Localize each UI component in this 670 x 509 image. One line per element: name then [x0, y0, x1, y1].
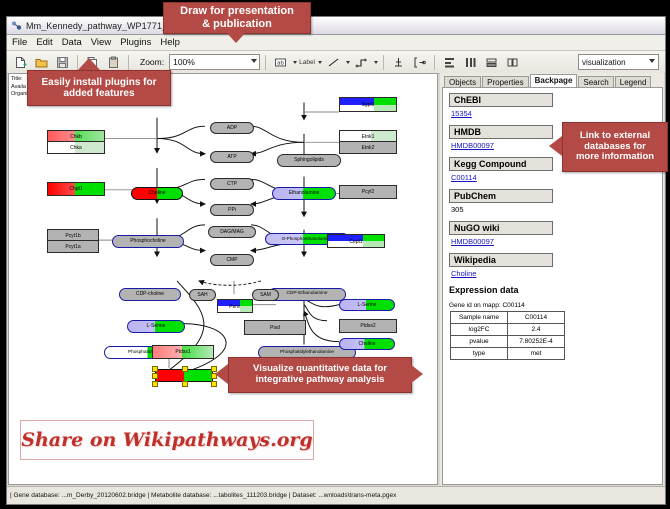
table-row: log2FC 2.4 [451, 324, 565, 336]
node-label: Etnk1 [362, 134, 375, 140]
menu-item-file[interactable]: File [12, 37, 27, 48]
section-header-nugo-wiki: NuGO wiki [449, 221, 553, 235]
node-etnk2[interactable]: Etnk2 [339, 141, 397, 154]
value-pubchem: 305 [451, 205, 656, 214]
line-icon[interactable] [324, 53, 343, 72]
gene-id-on-mapp: Gene id on mapp: C00114 [449, 302, 656, 309]
node-label: CTP [227, 182, 237, 187]
node-ptdss1[interactable]: Ptdss1 [152, 345, 214, 359]
node-label: Chka [70, 145, 82, 151]
zoom-value: 100% [173, 57, 195, 67]
anchor-icon[interactable] [389, 53, 408, 72]
resize-handle-nw[interactable] [152, 366, 158, 372]
section-header-kegg: Kegg Compound [449, 157, 553, 171]
callout-plugins-arrow [78, 58, 100, 70]
node-label: Sphingolipids [294, 158, 324, 163]
callout-visualize-arrow-right [410, 364, 423, 384]
chevron-down-icon [251, 59, 257, 63]
open-folder-icon[interactable] [32, 53, 51, 72]
node-dagmag[interactable]: DAG/MAG [208, 226, 256, 238]
node-label: O-Phosphoethanolamine [282, 237, 333, 242]
table-row: pvalue 7.80252E-4 [451, 336, 565, 348]
node-label: Chpt1 [69, 186, 82, 192]
pathway-info-available: Availa [11, 84, 28, 92]
chevron-down-icon[interactable] [318, 61, 322, 64]
node-ctp[interactable]: CTP [210, 178, 254, 190]
node-cept1[interactable]: Cept1 [327, 234, 385, 248]
toolbar-separator [434, 55, 435, 70]
text-label-icon[interactable]: ab [271, 53, 290, 72]
chevron-down-icon [649, 59, 655, 63]
node-cmp[interactable]: CMP [210, 254, 254, 266]
callout-visualize-text: Visualize quantitative data for integrat… [253, 364, 387, 386]
node-label: Phosphocholine [130, 239, 166, 244]
node-choline-selected-group[interactable] [149, 364, 219, 386]
callout-link-arrow [549, 136, 562, 156]
save-icon[interactable] [53, 53, 72, 72]
zoom-select[interactable]: 100% [169, 54, 260, 70]
node-label: Pcyt1a [65, 244, 80, 250]
visualization-select[interactable]: visualization [578, 54, 659, 70]
tab-backpage[interactable]: Backpage [530, 74, 578, 87]
title-bar: Mm_Kennedy_pathway_WP1771_45176.gpml [7, 17, 665, 35]
new-file-icon[interactable] [11, 53, 30, 72]
node-label: SAM [260, 293, 271, 298]
callout-plugins: Easily install plugins for added feature… [27, 70, 171, 106]
screenshot-root: Mm_Kennedy_pathway_WP1771_45176.gpml Fil… [0, 0, 670, 509]
node-pisd[interactable]: Pisd [244, 320, 306, 335]
cell-value: C00114 [508, 312, 565, 324]
section-header-wikipedia: Wikipedia [449, 253, 553, 267]
node-label: L-Serine [147, 324, 166, 329]
menu-bar: File Edit Data View Plugins Help [7, 35, 665, 51]
callout-draw-arrow [225, 31, 247, 43]
node-label: Ptdss2 [360, 323, 375, 329]
cell-value: met [508, 348, 565, 360]
node-sgpl1[interactable]: Sgpl1 [339, 97, 397, 112]
align-icon[interactable] [440, 53, 459, 72]
link-nugo-wiki[interactable]: HMDB00097 [451, 237, 656, 246]
node-label: ATP [227, 155, 236, 160]
menu-item-help[interactable]: Help [160, 37, 180, 48]
node-fill-right [374, 98, 396, 111]
node-label: PPi [228, 208, 236, 213]
section-header-hmdb: HMDB [449, 125, 553, 139]
node-sphingolipids[interactable]: Sphingolipids [277, 154, 341, 167]
table-row: type met [451, 348, 565, 360]
table-row: Sample name C00114 [451, 312, 565, 324]
node-ethanolamine-right[interactable]: Choline [339, 338, 395, 350]
distribute-icon[interactable] [461, 53, 480, 72]
link-wikipedia[interactable]: Choline [451, 269, 656, 278]
cell-value: 7.80252E-4 [508, 336, 565, 348]
connector-icon[interactable] [352, 53, 371, 72]
visualization-value: visualization [582, 58, 626, 67]
callout-draw: Draw for presentation & publication [163, 2, 311, 34]
cell-key: Sample name [451, 312, 508, 324]
section-header-chebi: ChEBI [449, 93, 553, 107]
node-label: Choline [359, 342, 376, 347]
node-pcyt1a[interactable]: Pcyt1a [47, 240, 99, 253]
stack-icon[interactable] [482, 53, 501, 72]
node-atp[interactable]: ATP [210, 151, 254, 163]
node-l-serine-mid[interactable]: L-Serine [127, 320, 185, 333]
node-sah[interactable]: SAH [189, 289, 216, 301]
callout-link-text: Link to external databases for more info… [576, 131, 654, 164]
callout-visualize: Visualize quantitative data for integrat… [228, 357, 412, 393]
node-choline-top[interactable]: Choline [131, 187, 183, 200]
node-fill-right [363, 235, 384, 247]
node-label: Etnk2 [362, 145, 375, 151]
side-panel-tabs: Objects Properties Backpage Search Legen… [440, 73, 664, 87]
node-ppi[interactable]: PPi [210, 204, 254, 216]
resize-handle-s[interactable] [182, 381, 188, 387]
chevron-down-icon[interactable] [374, 61, 378, 64]
callout-plugins-text: Easily install plugins for added feature… [41, 77, 156, 100]
menu-item-view[interactable]: View [91, 37, 111, 48]
section-header-pubchem: PubChem [449, 189, 553, 203]
zoom-label: Zoom: [140, 57, 164, 67]
node-label: Pcyt2 [362, 189, 375, 195]
node-label: CDP-choline [136, 292, 164, 297]
svg-text:ab: ab [277, 60, 284, 66]
node-pemt[interactable]: Pemt [217, 299, 253, 313]
pathway-info-block: Title: Availa Organi [11, 76, 28, 99]
node-label: Ethanolamine [289, 191, 320, 196]
expression-data-header: Expression data [449, 285, 656, 295]
status-bar: | Gene database: ...m_Derby_20120602.bri… [7, 486, 665, 504]
label-dropdown-label: Label [299, 59, 315, 66]
node-label: SAH [197, 293, 207, 298]
cell-value: 2.4 [508, 324, 565, 336]
node-l-serine-right[interactable]: L-Serine [339, 299, 395, 311]
bracket-icon[interactable] [410, 53, 429, 72]
toolbar-separator [265, 55, 266, 70]
toolbar-separator [383, 55, 384, 70]
resize-handle-sw[interactable] [152, 381, 158, 387]
group-icon[interactable] [503, 53, 522, 72]
callout-share: Share on Wikipathways.org [20, 420, 314, 460]
chevron-down-icon[interactable] [346, 61, 350, 64]
node-label: L-Serine [358, 303, 377, 308]
node-ptdss2[interactable]: Ptdss2 [339, 319, 397, 333]
link-kegg[interactable]: C00114 [451, 173, 656, 182]
node-ethanolamine-1[interactable]: Ethanolamine [272, 187, 336, 200]
pathway-info-title: Title: [11, 76, 28, 84]
node-label: ADP [227, 126, 237, 131]
node-fill-right [240, 300, 252, 312]
expression-data-table: Sample name C00114 log2FC 2.4 pvalue 7.8… [450, 311, 565, 360]
callout-share-text: Share on Wikipathways.org [21, 429, 312, 451]
node-pcyt2[interactable]: Pcyt2 [339, 185, 397, 199]
cell-key: type [451, 348, 508, 360]
node-phosphocholine[interactable]: Phosphocholine [112, 235, 184, 248]
cell-key: log2FC [451, 324, 508, 336]
menu-item-data[interactable]: Data [62, 37, 82, 48]
paste-icon[interactable] [104, 53, 123, 72]
menu-item-edit[interactable]: Edit [36, 37, 52, 48]
pathvisio-app-icon [11, 20, 22, 31]
node-label: Pisd [270, 325, 280, 331]
link-chebi[interactable]: 15354 [451, 109, 656, 118]
callout-link: Link to external databases for more info… [562, 122, 668, 172]
node-label: Ptdss1 [175, 349, 190, 355]
node-label: Chkb [70, 134, 82, 140]
node-chpt1[interactable]: Chpt1 [47, 182, 105, 196]
resize-handle-w[interactable] [152, 373, 158, 379]
node-sam[interactable]: SAM [252, 289, 279, 301]
node-label: Phosphatidylethanolamine [280, 350, 334, 355]
node-label: Choline [149, 191, 166, 196]
node-label: CDP-Ethanolamine [286, 292, 327, 297]
resize-handle-n[interactable] [182, 366, 188, 372]
callout-visualize-arrow-left [215, 364, 228, 384]
pathway-info-organism: Organi [11, 91, 28, 99]
node-adp[interactable]: ADP [210, 122, 254, 134]
node-label: DAG/MAG [220, 230, 244, 235]
node-label: CMP [226, 258, 237, 263]
status-bar-text: | Gene database: ...m_Derby_20120602.bri… [10, 492, 396, 499]
cell-key: pvalue [451, 336, 508, 348]
node-cdp-ethanolamine[interactable]: CDP-Ethanolamine [268, 288, 346, 301]
chevron-down-icon[interactable] [293, 61, 297, 64]
node-label: Pcyt1b [65, 233, 80, 239]
node-chka[interactable]: Chka [47, 141, 105, 154]
toolbar-separator [128, 55, 129, 70]
callout-draw-text: Draw for presentation & publication [180, 5, 294, 30]
node-cdp-choline[interactable]: CDP-choline [119, 288, 181, 301]
menu-item-plugins[interactable]: Plugins [120, 37, 151, 48]
